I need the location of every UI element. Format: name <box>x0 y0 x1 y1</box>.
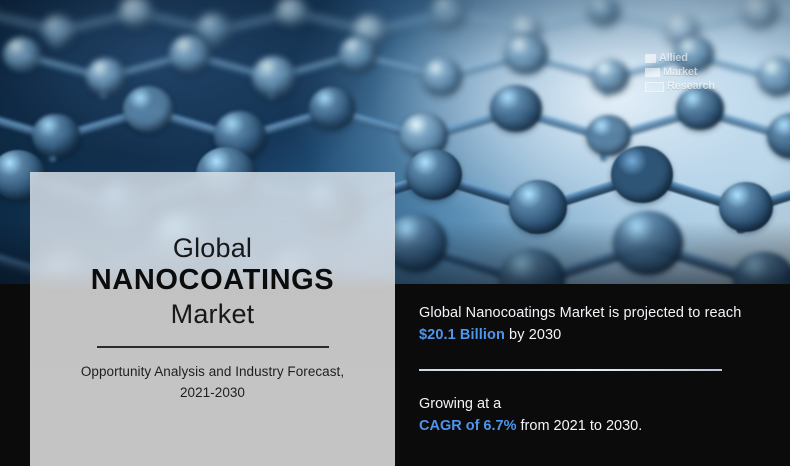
lattice-atom <box>490 85 541 132</box>
lattice-atom <box>742 0 778 28</box>
logo-text-allied: Allied <box>659 53 688 64</box>
lattice-atom <box>252 56 296 97</box>
lattice-atom <box>591 59 629 94</box>
logo-bar-icon <box>645 82 664 92</box>
stats-divider <box>419 369 722 371</box>
market-report-banner: Allied Market Research Global NANOCOATIN… <box>0 0 790 466</box>
logo-text-research: Research <box>667 81 715 92</box>
title-divider <box>97 346 329 348</box>
title-eyebrow: Global <box>173 234 252 262</box>
lattice-atom <box>613 211 683 275</box>
lattice-atom <box>757 57 790 96</box>
lattice-atom <box>42 15 74 45</box>
logo-bar-icon <box>645 54 656 63</box>
lattice-atom <box>309 87 355 130</box>
lattice-atom <box>611 146 673 203</box>
lattice-atom <box>733 252 790 284</box>
lattice-atom <box>169 35 211 74</box>
lattice-atom <box>86 58 126 95</box>
title-card: Global NANOCOATINGS Market Opportunity A… <box>30 172 395 466</box>
stat-projection: Global Nanocoatings Market is projected … <box>419 302 759 346</box>
title-subhead: Market <box>171 299 255 331</box>
lattice-atom <box>504 34 547 74</box>
lattice-atom <box>339 36 378 72</box>
lattice-atom <box>719 182 773 232</box>
allied-market-research-logo: Allied Market Research <box>645 52 717 96</box>
lattice-atom <box>422 58 463 96</box>
stat-projection-prefix: Global Nanocoatings Market is projected … <box>419 305 741 321</box>
title-headline: NANOCOATINGS <box>91 262 335 299</box>
stat-growth-lead: Growing at a <box>419 396 501 412</box>
stat-projection-suffix: by 2030 <box>505 327 561 343</box>
title-subtitle-line1: Opportunity Analysis and Industry Foreca… <box>81 364 344 379</box>
stats-panel: Global Nanocoatings Market is projected … <box>419 302 759 437</box>
lattice-atom <box>32 114 80 158</box>
lattice-atom <box>119 0 153 27</box>
title-subtitle-line2: 2021-2030 <box>180 385 245 400</box>
logo-row-allied: Allied <box>645 52 717 65</box>
lattice-atom <box>3 37 41 72</box>
lattice-atom <box>276 0 307 26</box>
lattice-atom <box>509 180 568 234</box>
lattice-atom <box>123 86 173 132</box>
lattice-atom <box>767 113 790 159</box>
logo-row-market: Market <box>645 66 717 79</box>
stat-growth-value: CAGR of 6.7% <box>419 418 517 434</box>
lattice-atom <box>588 0 620 26</box>
logo-bar-icon <box>645 68 660 77</box>
stat-growth-suffix: from 2021 to 2030. <box>517 418 643 434</box>
logo-row-research: Research <box>645 80 717 93</box>
lattice-atom <box>406 149 462 200</box>
stat-growth: Growing at a CAGR of 6.7% from 2021 to 2… <box>419 393 759 437</box>
stat-projection-value: $20.1 Billion <box>419 327 505 343</box>
title-subtitle: Opportunity Analysis and Industry Foreca… <box>45 362 381 404</box>
lattice-atom <box>431 0 466 28</box>
lattice-atom <box>499 249 565 284</box>
logo-text-market: Market <box>663 67 697 78</box>
